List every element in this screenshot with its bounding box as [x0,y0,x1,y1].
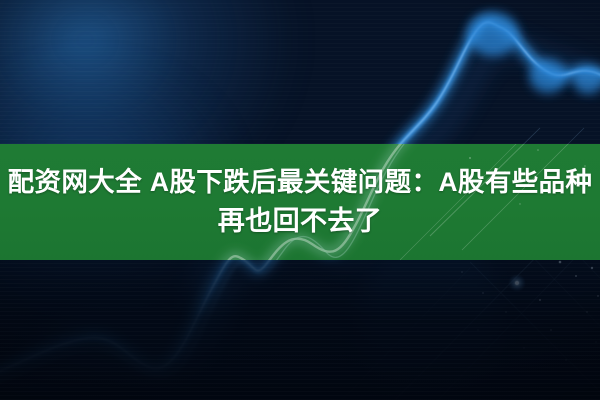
lower-shadow-overlay [0,250,600,400]
headline-line-1: 配资网大全 A股下跌后最关键问题：A股有些品种 [8,166,593,200]
glow-blob-2 [529,59,567,93]
headline-line-2: 再也回不去了 [218,204,382,239]
glow-blob-1 [467,12,519,56]
headline-banner: 配资网大全 A股下跌后最关键问题：A股有些品种 再也回不去了 [0,144,600,260]
headline-text-block: 配资网大全 A股下跌后最关键问题：A股有些品种 再也回不去了 [0,144,600,260]
banner-image: 配资网大全 A股下跌后最关键问题：A股有些品种 再也回不去了 [0,0,600,400]
